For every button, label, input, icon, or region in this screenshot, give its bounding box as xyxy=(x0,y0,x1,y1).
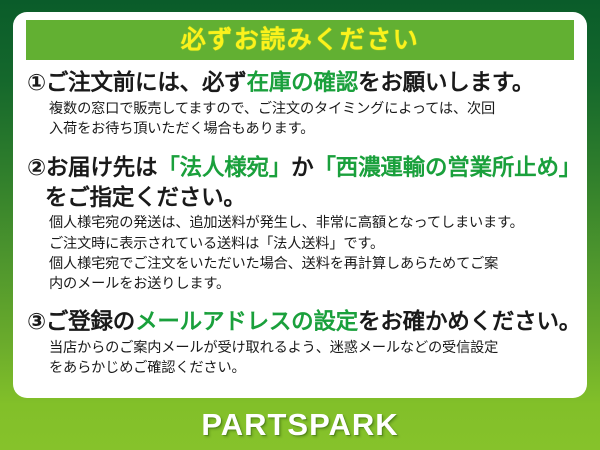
notice-item-1-heading: ①ご注文前には、必ず在庫の確認をお願いします。 xyxy=(27,68,577,98)
notice-item-3-body-line-2: をあらかじめご確認ください。 xyxy=(49,358,577,378)
notice-item-1-heading-highlight: 在庫の確認 xyxy=(247,70,359,95)
notice-item-2-body-line-2: ご注文時に表示されている送料は「法人送料」です。 xyxy=(49,234,577,254)
brand-footer: PARTSPARK xyxy=(0,398,600,450)
notice-item-3: ③ご登録のメールアドレスの設定をお確かめください。 当店からのご案内メールが受け… xyxy=(27,307,577,378)
notice-item-2-heading-highlight-1: 「法人様宛」 xyxy=(157,155,291,180)
notice-item-3-body-line-1: 当店からのご案内メールが受け取れるよう、迷惑メールなどの受信設定 xyxy=(49,338,577,358)
notice-card: 必ずお読みください ①ご注文前には、必ず在庫の確認をお願いします。 複数の窓口で… xyxy=(0,0,600,450)
notice-item-2-heading-part-3: か xyxy=(291,155,313,180)
notice-item-2-body-line-1: 個人様宅宛の発送は、追加送料が発生し、非常に高額となってしまいます。 xyxy=(49,213,577,233)
notice-item-2-heading-line-2: をご指定ください。 xyxy=(45,183,577,213)
notice-item-3-heading-highlight: メールアドレスの設定 xyxy=(135,309,358,334)
notice-item-3-heading: ③ご登録のメールアドレスの設定をお確かめください。 xyxy=(27,307,577,337)
notice-item-1-body-line-2: 入荷をお待ち頂いただく場合もあります。 xyxy=(49,119,577,139)
notice-item-1-heading-part-1: ①ご注文前には、必ず xyxy=(27,70,247,95)
notice-item-1-body: 複数の窓口で販売してますので、ご注文のタイミングによっては、次回 入荷をお待ち頂… xyxy=(49,99,577,139)
notice-item-3-body: 当店からのご案内メールが受け取れるよう、迷惑メールなどの受信設定 をあらかじめご… xyxy=(49,338,577,378)
notice-item-2-heading: ②お届け先は「法人様宛」か「西濃運輸の営業所止め」 xyxy=(27,153,577,183)
notice-item-3-heading-part-3: をお確かめください。 xyxy=(358,309,581,334)
notice-list: ①ご注文前には、必ず在庫の確認をお願いします。 複数の窓口で販売してますので、ご… xyxy=(13,66,587,380)
notice-item-2: ②お届け先は「法人様宛」か「西濃運輸の営業所止め」 をご指定ください。 個人様宅… xyxy=(27,153,577,294)
notice-item-1-body-line-1: 複数の窓口で販売してますので、ご注文のタイミングによっては、次回 xyxy=(49,99,577,119)
brand-logo-text: PARTSPARK xyxy=(201,409,398,440)
notice-panel: 必ずお読みください ①ご注文前には、必ず在庫の確認をお願いします。 複数の窓口で… xyxy=(13,12,587,398)
notice-item-2-body-line-3: 個人様宅宛でご注文をいただいた場合、送料を再計算しあらためてご案 xyxy=(49,254,577,274)
notice-item-2-heading-highlight-2: 「西濃運輸の営業所止め」 xyxy=(313,155,581,180)
title-banner: 必ずお読みください xyxy=(26,20,574,60)
notice-item-2-body: 個人様宅宛の発送は、追加送料が発生し、非常に高額となってしまいます。 ご注文時に… xyxy=(49,213,577,294)
banner-title: 必ずお読みください xyxy=(181,28,420,53)
notice-item-2-body-line-4: 内のメールをお送りします。 xyxy=(49,274,577,294)
notice-item-3-heading-part-1: ③ご登録の xyxy=(27,309,135,334)
notice-item-1-heading-part-3: をお願いします。 xyxy=(358,70,534,95)
notice-item-2-heading-part-1: ②お届け先は xyxy=(27,155,157,180)
notice-item-1: ①ご注文前には、必ず在庫の確認をお願いします。 複数の窓口で販売してますので、ご… xyxy=(27,68,577,139)
